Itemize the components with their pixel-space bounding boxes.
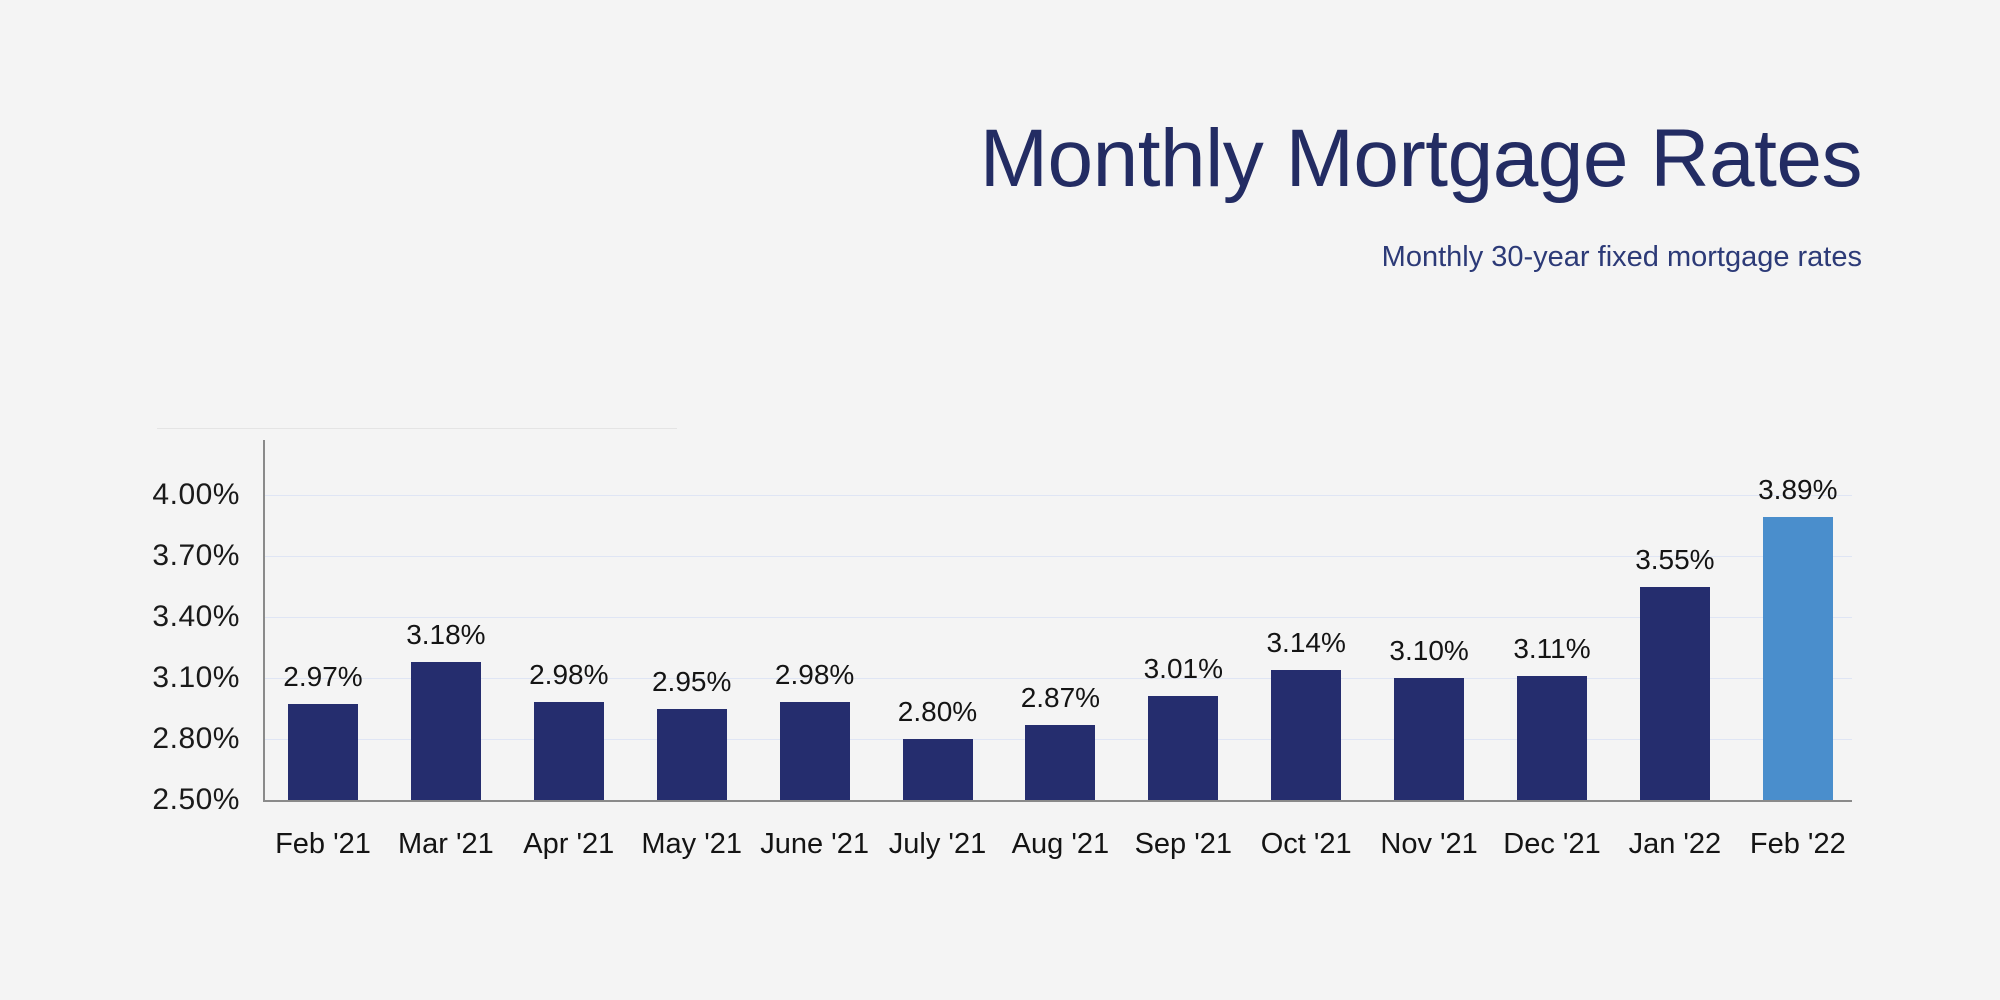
y-axis-tick-label: 3.40% <box>80 602 240 632</box>
bar-rect[interactable] <box>780 702 850 800</box>
bar[interactable]: 2.97% <box>288 704 358 800</box>
bar-value-label: 3.11% <box>1477 634 1627 664</box>
bar-value-label: 2.98% <box>740 660 890 690</box>
top-divider <box>157 428 677 429</box>
bar-rect[interactable] <box>1025 725 1095 800</box>
bar-rect[interactable] <box>534 702 604 800</box>
bar-rect[interactable] <box>1763 517 1833 800</box>
gridline <box>265 617 1852 618</box>
bar[interactable]: 3.55% <box>1640 587 1710 801</box>
y-axis-tick-label: 2.80% <box>80 724 240 754</box>
bar[interactable]: 2.80% <box>903 739 973 800</box>
bar-value-label: 2.87% <box>985 683 1135 713</box>
bar-rect[interactable] <box>288 704 358 800</box>
bar[interactable]: 3.14% <box>1271 670 1341 800</box>
bar-rect[interactable] <box>1148 696 1218 800</box>
bar-value-label: 3.89% <box>1723 475 1873 505</box>
bar-value-label: 3.55% <box>1600 545 1750 575</box>
y-axis-line <box>263 440 265 801</box>
bar[interactable]: 3.01% <box>1148 696 1218 800</box>
bar[interactable]: 3.10% <box>1394 678 1464 800</box>
bar[interactable]: 2.87% <box>1025 725 1095 800</box>
bar[interactable]: 2.98% <box>534 702 604 800</box>
bar[interactable]: 2.98% <box>780 702 850 800</box>
bar-rect[interactable] <box>1517 676 1587 800</box>
y-axis-tick-label: 3.10% <box>80 663 240 693</box>
bar[interactable]: 2.95% <box>657 709 727 801</box>
bar-rect[interactable] <box>903 739 973 800</box>
gridline <box>265 495 1852 496</box>
x-axis-tick-label: Feb '22 <box>1708 828 1888 860</box>
chart-canvas: Monthly Mortgage Rates Monthly 30-year f… <box>0 0 2000 1000</box>
bar-rect[interactable] <box>657 709 727 801</box>
y-axis-tick-label: 4.00% <box>80 480 240 510</box>
x-axis-line <box>263 800 1852 802</box>
bar-rect[interactable] <box>1394 678 1464 800</box>
bar[interactable]: 3.18% <box>411 662 481 800</box>
plot-area: 4.00%3.70%3.40%3.10%2.80%2.50% 2.97%3.18… <box>0 0 2000 1000</box>
y-axis-tick-label: 2.50% <box>80 785 240 815</box>
bar[interactable]: 3.89% <box>1763 517 1833 800</box>
y-axis-tick-label: 3.70% <box>80 541 240 571</box>
bar-value-label: 3.18% <box>371 620 521 650</box>
bar-rect[interactable] <box>1640 587 1710 801</box>
bar-value-label: 3.01% <box>1108 654 1258 684</box>
bar[interactable]: 3.11% <box>1517 676 1587 800</box>
bar-rect[interactable] <box>1271 670 1341 800</box>
bar-value-label: 2.97% <box>248 662 398 692</box>
bar-rect[interactable] <box>411 662 481 800</box>
